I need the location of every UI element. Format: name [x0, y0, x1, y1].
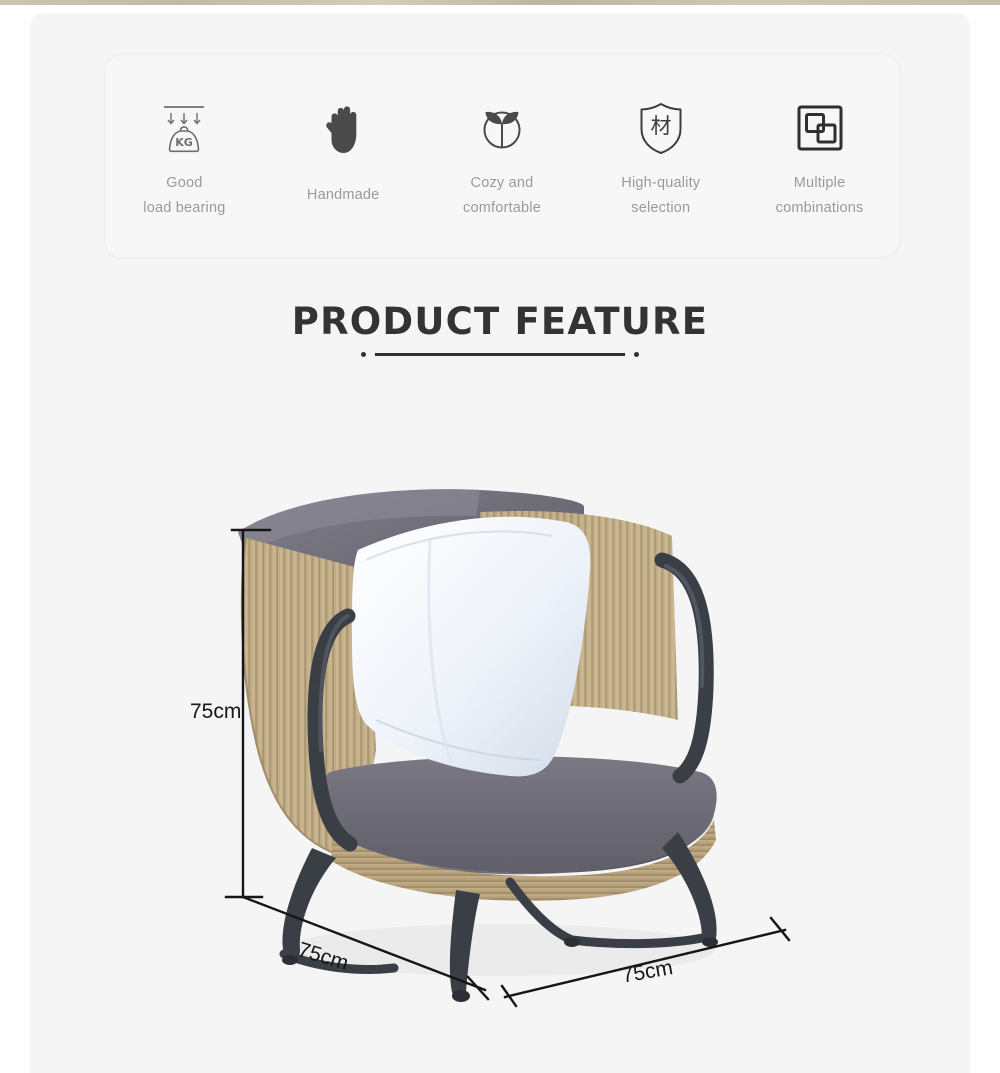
page-title: PRODUCT FEATURE [0, 300, 1000, 343]
kg-text: KG [176, 136, 194, 149]
feature-label: Multiple combinations [776, 171, 864, 221]
feature-item-multiple-combinations: Multiple combinations [745, 99, 895, 221]
title-divider [0, 352, 1000, 357]
feature-item-handmade: Handmade [268, 99, 418, 208]
feature-label: Cozy and comfortable [463, 171, 541, 221]
feature-highlights-card: KG Good load bearing Handmade [104, 54, 900, 258]
feature-item-high-quality: 材 High-quality selection [586, 99, 736, 221]
overlapping-squares-icon [793, 99, 847, 157]
throw-pillow [352, 517, 590, 777]
weight-kg-icon: KG [155, 99, 213, 157]
outdoor-rope-armchair-illustration [180, 420, 820, 1020]
feature-label: High-quality selection [621, 171, 700, 221]
feature-label: Handmade [307, 183, 380, 208]
hand-icon [317, 99, 369, 157]
shield-material-icon: 材 [634, 99, 688, 157]
divider-dot-left [361, 352, 366, 357]
material-character: 材 [650, 114, 671, 138]
sprout-circle-icon [474, 99, 530, 157]
product-image-stage [180, 420, 820, 1020]
feature-label: Good load bearing [143, 171, 225, 221]
product-feature-page: KG Good load bearing Handmade [0, 0, 1000, 1073]
top-accent-strip [0, 0, 1000, 5]
dim-label-height: 75cm [190, 700, 241, 724]
divider-bar [375, 353, 625, 356]
divider-dot-right [634, 352, 639, 357]
feature-item-load-bearing: KG Good load bearing [109, 99, 259, 221]
feature-item-cozy: Cozy and comfortable [427, 99, 577, 221]
